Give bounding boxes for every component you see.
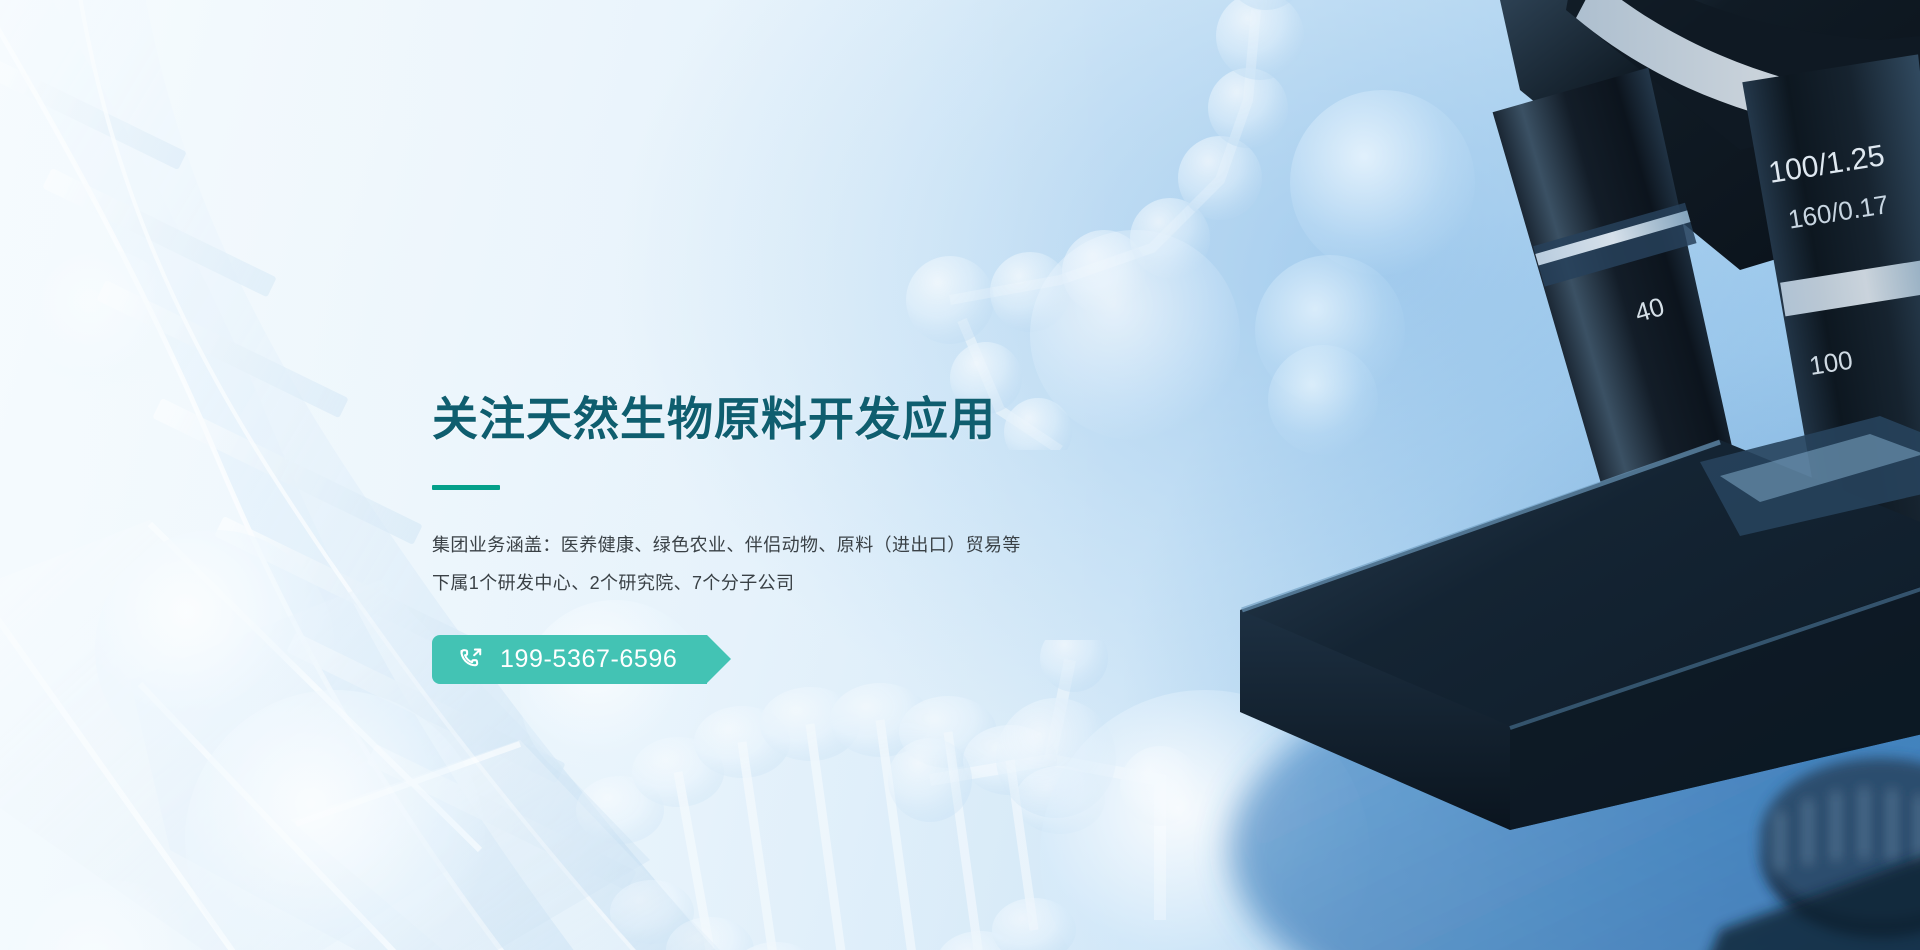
svg-text:40: 40 <box>1631 291 1667 328</box>
title-divider <box>432 485 500 490</box>
molecule-chain-secondary-icon <box>860 640 1480 950</box>
hero-subtitle: 集团业务涵盖：医养健康、绿色农业、伴侣动物、原料（进出口）贸易等 下属1个研发中… <box>432 526 1192 602</box>
hero-content: 关注天然生物原料开发应用 集团业务涵盖：医养健康、绿色农业、伴侣动物、原料（进出… <box>432 392 1192 684</box>
bokeh-light <box>1268 345 1378 455</box>
bokeh-light <box>185 690 485 950</box>
cta-container: 199-5367-6596 <box>432 635 1192 684</box>
subtitle-line-2: 下属1个研发中心、2个研究院、7个分子公司 <box>432 564 1192 602</box>
phone-outgoing-icon <box>458 646 484 672</box>
bokeh-light <box>1255 255 1405 405</box>
bokeh-light <box>30 250 180 400</box>
svg-text:100: 100 <box>1807 345 1855 381</box>
subtitle-line-1: 集团业务涵盖：医养健康、绿色农业、伴侣动物、原料（进出口）贸易等 <box>432 526 1192 564</box>
svg-text:160/0.17: 160/0.17 <box>1786 189 1891 234</box>
hero-banner: 40 100/1.25 160/0.17 100 <box>0 0 1920 950</box>
bokeh-light <box>1290 90 1475 275</box>
svg-text:100/1.25: 100/1.25 <box>1766 139 1887 190</box>
phone-cta-button[interactable]: 199-5367-6596 <box>432 635 707 684</box>
bokeh-light <box>0 880 220 950</box>
bokeh-light <box>95 530 335 770</box>
page-title: 关注天然生物原料开发应用 <box>432 392 1192 446</box>
molecule-chain-icon <box>700 0 1320 450</box>
bokeh-light <box>1040 690 1370 950</box>
microscope-icon: 40 100/1.25 160/0.17 100 <box>1180 0 1920 950</box>
phone-number: 199-5367-6596 <box>500 647 677 672</box>
